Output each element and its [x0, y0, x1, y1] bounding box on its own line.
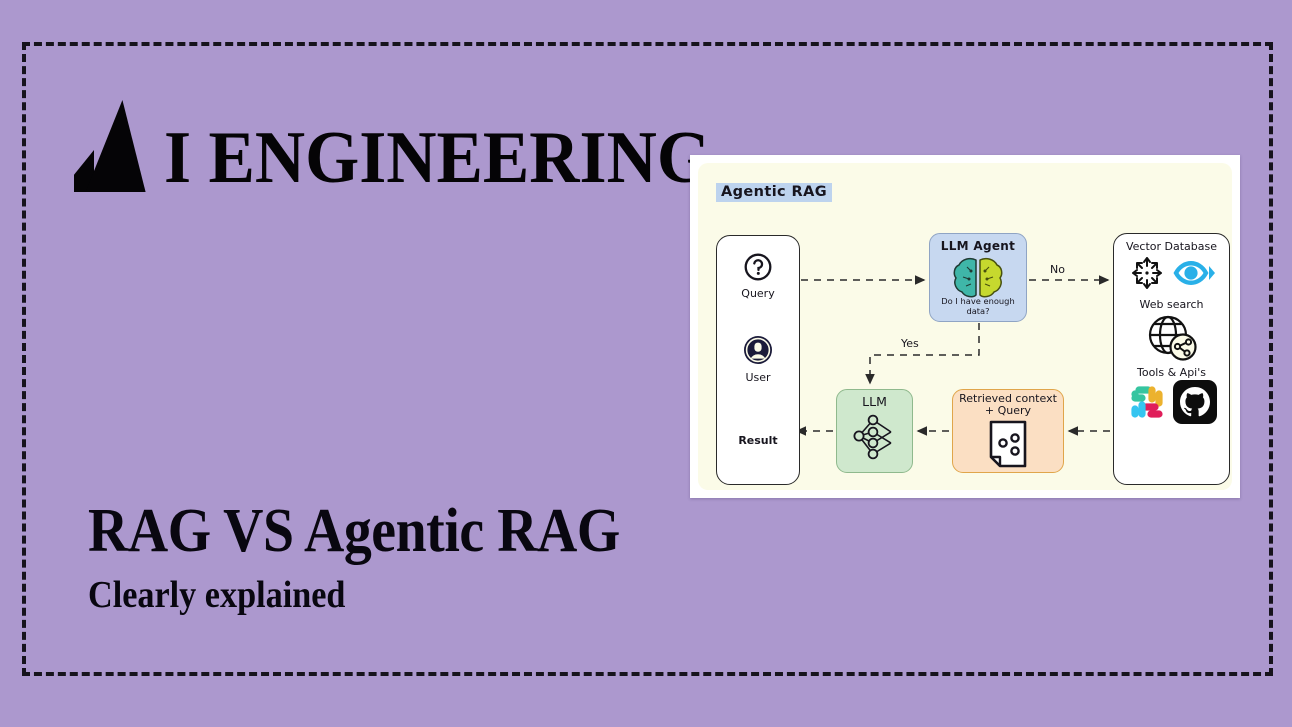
retrieved-context-node[interactable]: Retrieved context + Query — [952, 389, 1064, 473]
tools-apis-group: Tools & Api's — [1126, 366, 1217, 424]
retrieved-context-line2: + Query — [985, 404, 1031, 417]
diagram-canvas: Agentic RAG No Yes — [698, 163, 1232, 490]
llm-agent-title: LLM Agent — [941, 239, 1015, 253]
document-icon — [986, 419, 1030, 469]
retrieved-context-title: Retrieved context + Query — [959, 393, 1057, 418]
neural-network-icon — [846, 407, 904, 465]
diagram-image: Agentic RAG No Yes — [690, 155, 1240, 498]
brain-icon — [950, 255, 1006, 301]
edge-label-yes: Yes — [901, 337, 919, 350]
user-item: User — [742, 334, 774, 384]
tools-panel[interactable]: Vector Database — [1113, 233, 1230, 485]
query-label: Query — [741, 287, 774, 300]
tools-apis-label: Tools & Api's — [1137, 366, 1206, 379]
page-subtitle: Clearly explained — [88, 576, 628, 614]
web-search-label: Web search — [1139, 298, 1203, 311]
retrieved-context-line1: Retrieved context — [959, 392, 1057, 405]
llm-node[interactable]: LLM — [836, 389, 913, 473]
slack-icon — [1126, 381, 1168, 423]
llm-agent-node[interactable]: LLM Agent Do I have enough data? — [929, 233, 1027, 322]
brand-logo: I ENGINEERING — [74, 96, 746, 192]
diagram-title: Agentic RAG — [716, 183, 832, 202]
query-item: Query — [741, 252, 774, 300]
user-avatar-icon — [742, 334, 774, 366]
page-title: RAG VS Agentic RAG — [88, 500, 628, 562]
weaviate-eye-icon — [1173, 256, 1215, 290]
github-icon — [1173, 380, 1217, 424]
vector-database-label: Vector Database — [1126, 240, 1217, 253]
llm-agent-question: Do I have enough data? — [930, 296, 1026, 316]
vector-database-group: Vector Database — [1126, 240, 1217, 292]
ai-wedge-logo-icon — [74, 96, 162, 192]
globe-share-icon — [1144, 312, 1199, 362]
pinecone-arrows-icon — [1127, 254, 1167, 292]
brand-name: I ENGINEERING — [164, 124, 711, 192]
edge-label-no: No — [1050, 263, 1065, 276]
io-panel[interactable]: Query User Result — [716, 235, 800, 485]
web-search-group: Web search — [1139, 298, 1203, 362]
question-mark-circle-icon — [743, 252, 773, 282]
result-label: Result — [738, 434, 777, 447]
headline-block: RAG VS Agentic RAG Clearly explained — [88, 500, 688, 614]
user-label: User — [745, 371, 770, 384]
